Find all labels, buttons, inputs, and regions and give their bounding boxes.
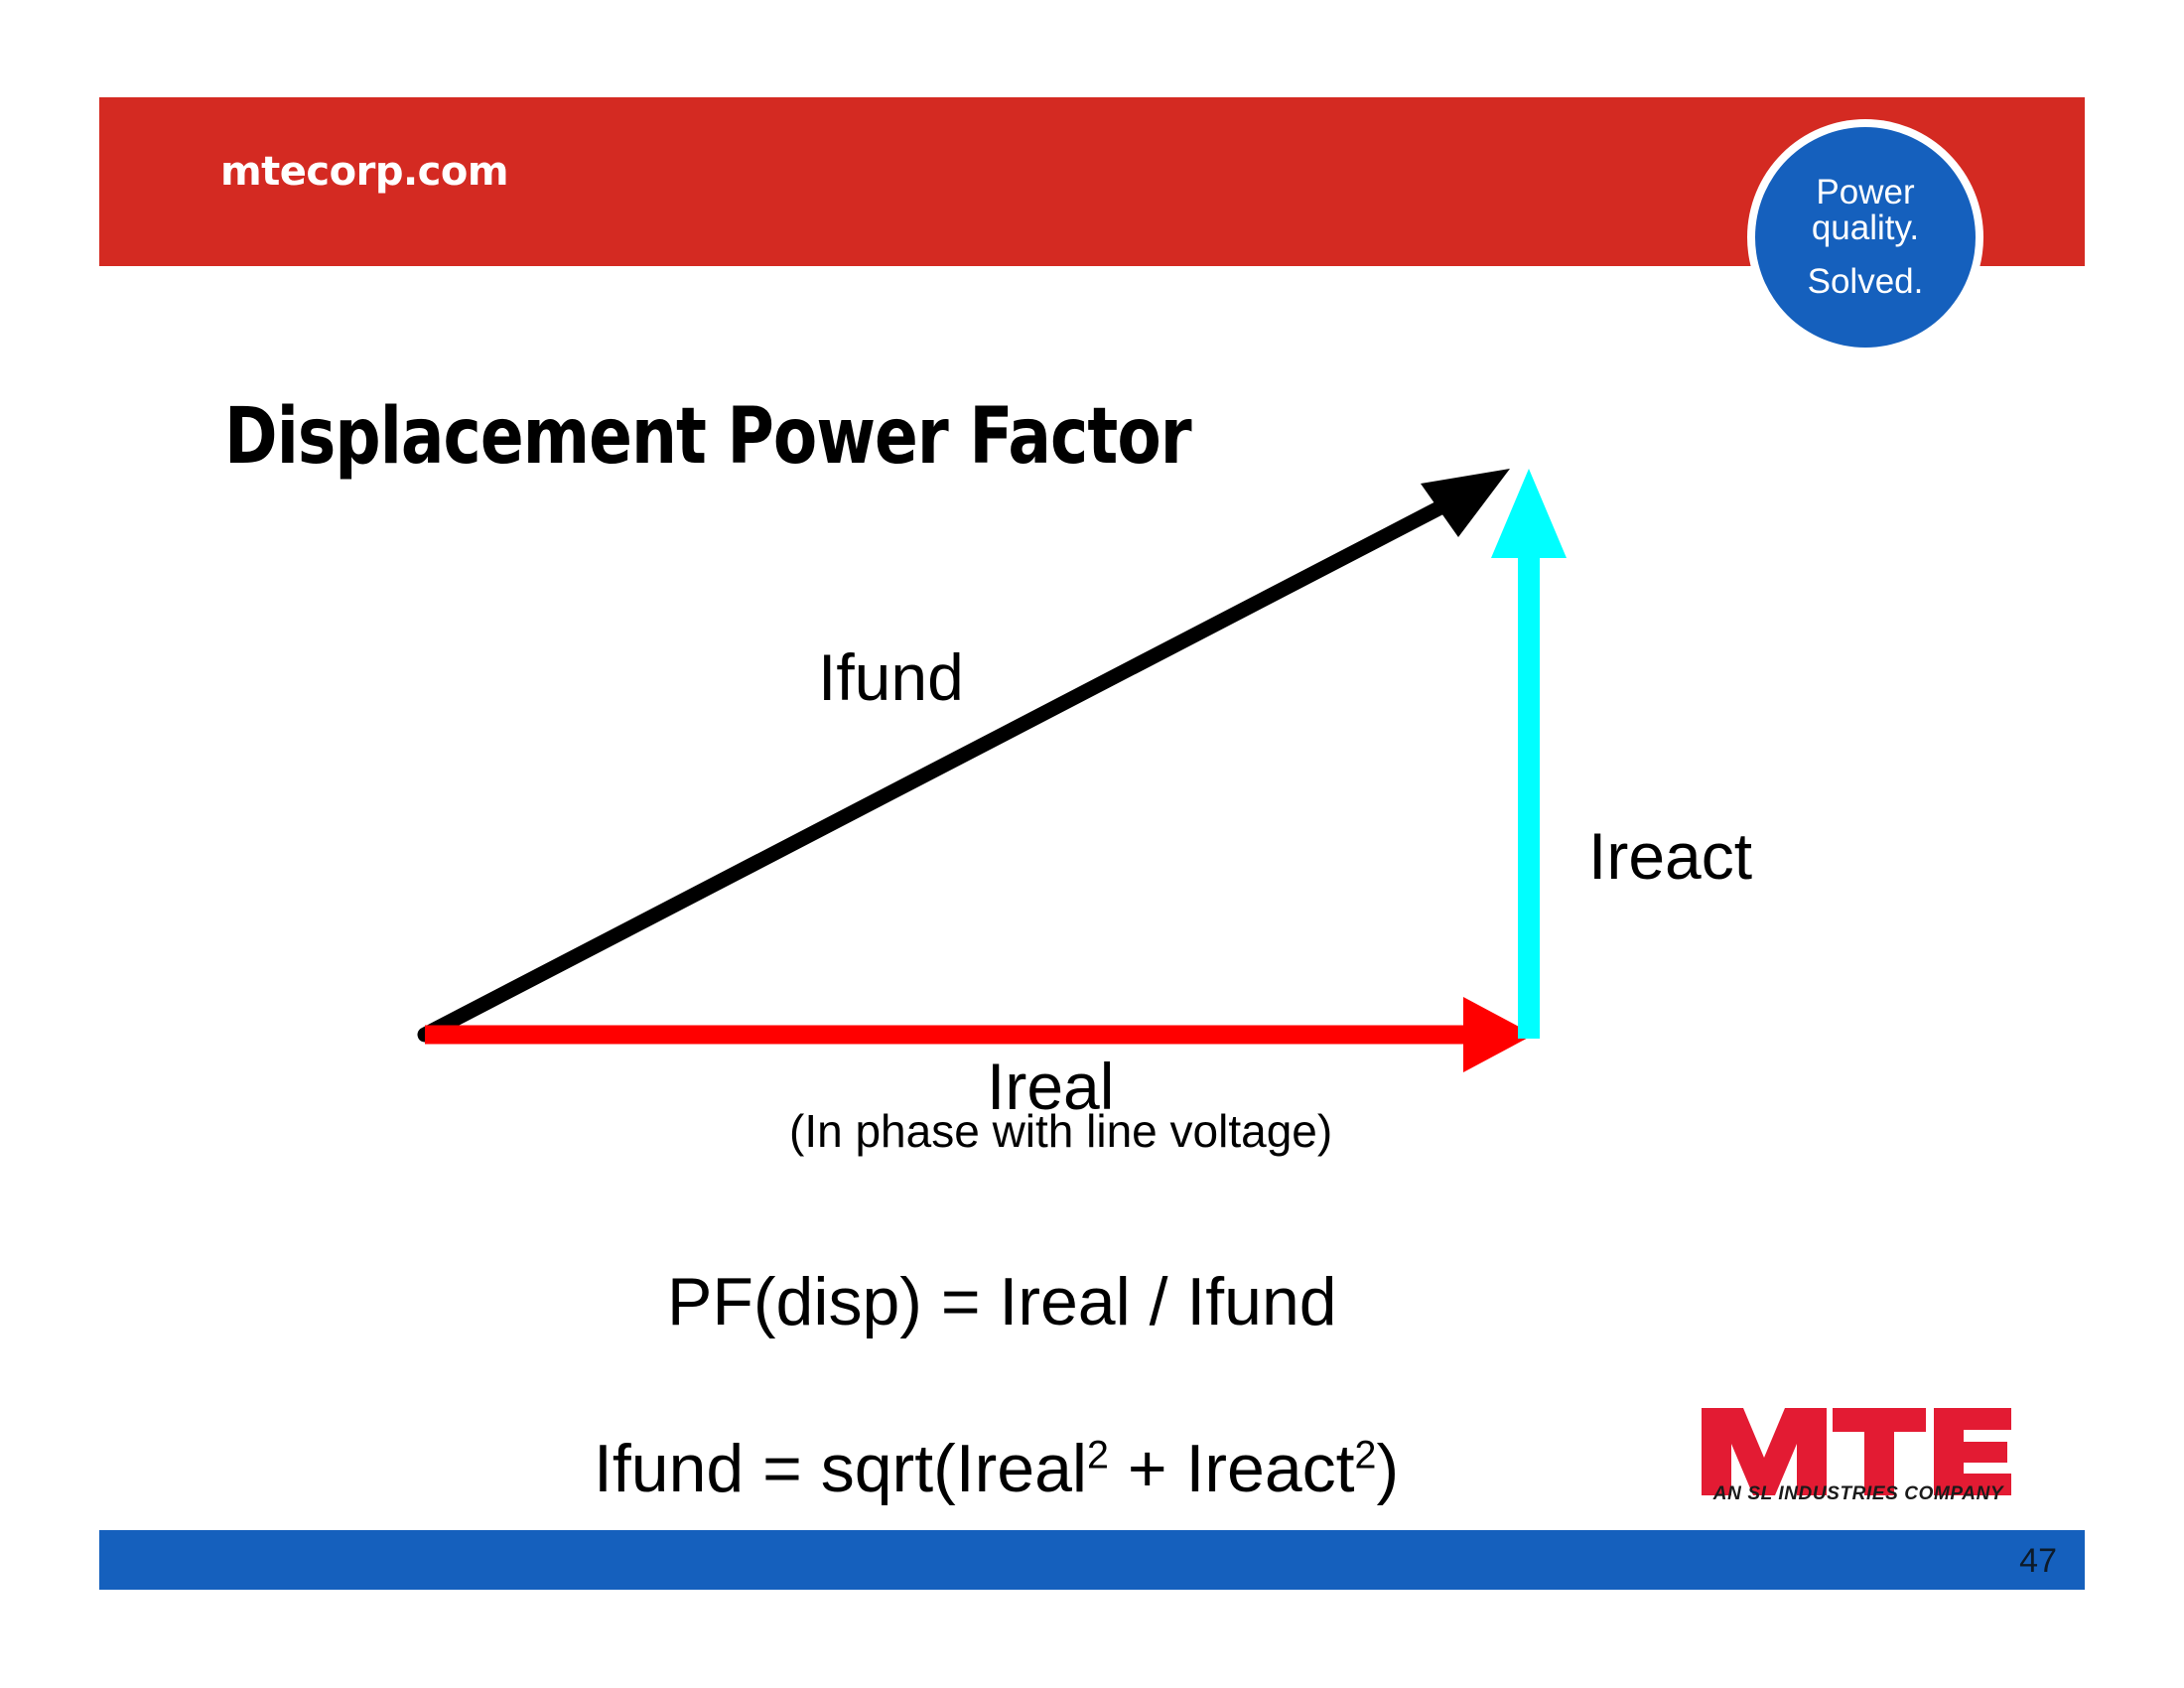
formula-ifund-part1: Ifund = sqrt(Ireal <box>594 1431 1087 1506</box>
ifund-label: Ifund <box>818 639 964 715</box>
ireal-vector-arrow <box>425 997 1534 1072</box>
formula-ifund-sup1: 2 <box>1087 1433 1109 1477</box>
ireact-vector-arrow <box>1491 469 1567 1039</box>
page-title: Displacement Power Factor <box>224 392 1191 482</box>
header-website-url: mtecorp.com <box>220 149 508 195</box>
ifund-vector-arrow <box>425 469 1510 1035</box>
mte-logo-tagline: AN SL INDUSTRIES COMPANY <box>1704 1483 2013 1505</box>
slide-canvas: mtecorp.com Power quality. Solved. Displ… <box>0 0 2184 1688</box>
badge-line-solved: Solved. <box>1808 264 1924 300</box>
in-phase-note: (In phase with line voltage) <box>789 1104 1332 1158</box>
ireact-label: Ireact <box>1588 818 1752 894</box>
formula-ifund-part3: ) <box>1376 1431 1399 1506</box>
footer-bar <box>99 1530 2085 1590</box>
formula-pf-text: PF(disp) = Ireal / Ifund <box>667 1264 1337 1339</box>
badge-line-power: Power <box>1816 175 1914 211</box>
badge-line-quality: quality. <box>1812 211 1919 246</box>
formula-ifund-part2: + Ireact <box>1109 1431 1355 1506</box>
formula-power-factor: PF(disp) = Ireal / Ifund <box>667 1263 1337 1340</box>
formula-ifund-magnitude: Ifund = sqrt(Ireal2 + Ireact2) <box>594 1430 1399 1507</box>
page-number: 47 <box>2019 1542 2057 1581</box>
power-quality-solved-badge: Power quality. Solved. <box>1755 127 1976 348</box>
formula-ifund-sup2: 2 <box>1355 1433 1377 1477</box>
